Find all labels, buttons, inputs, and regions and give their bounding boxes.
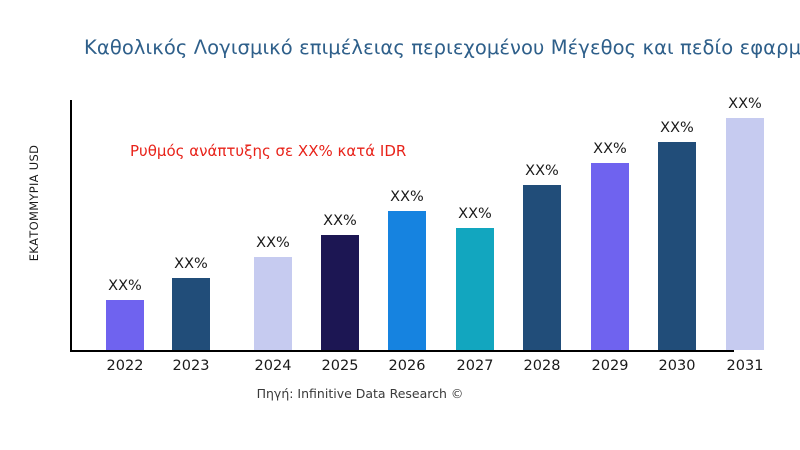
bar-value-label-2031: XX%	[728, 96, 762, 112]
x-tick-2025: 2025	[305, 358, 375, 374]
bar-group-2023: XX%	[172, 278, 210, 350]
x-tick-2022: 2022	[90, 358, 160, 374]
bar-value-label-2023: XX%	[174, 256, 208, 272]
bar-2027[interactable]	[456, 228, 494, 350]
bar-2024[interactable]	[254, 257, 292, 350]
bar-group-2022: XX%	[106, 300, 144, 350]
bar-2022[interactable]	[106, 300, 144, 350]
x-tick-2029: 2029	[575, 358, 645, 374]
source-note: Πηγή: Infinitive Data Research ©	[0, 386, 720, 401]
bar-2023[interactable]	[172, 278, 210, 350]
bar-group-2030: XX%	[658, 142, 696, 350]
bar-2030[interactable]	[658, 142, 696, 350]
bar-group-2028: XX%	[523, 185, 561, 350]
bar-value-label-2022: XX%	[108, 278, 142, 294]
bar-value-label-2030: XX%	[660, 120, 694, 136]
x-tick-2027: 2027	[440, 358, 510, 374]
x-tick-2026: 2026	[372, 358, 442, 374]
bar-2026[interactable]	[388, 211, 426, 350]
bar-2029[interactable]	[591, 163, 629, 350]
bar-value-label-2025: XX%	[323, 213, 357, 229]
bar-value-label-2028: XX%	[525, 163, 559, 179]
bar-group-2029: XX%	[591, 163, 629, 350]
bar-2028[interactable]	[523, 185, 561, 350]
bar-group-2031: XX%	[726, 118, 764, 350]
bar-value-label-2026: XX%	[390, 189, 424, 205]
bar-group-2025: XX%	[321, 235, 359, 350]
x-tick-2024: 2024	[238, 358, 308, 374]
bar-value-label-2027: XX%	[458, 206, 492, 222]
x-tick-2023: 2023	[156, 358, 226, 374]
x-tick-2028: 2028	[507, 358, 577, 374]
bar-2031[interactable]	[726, 118, 764, 350]
bar-value-label-2024: XX%	[256, 235, 290, 251]
bar-group-2024: XX%	[254, 257, 292, 350]
x-tick-2031: 2031	[710, 358, 780, 374]
bar-value-label-2029: XX%	[593, 141, 627, 157]
bar-group-2026: XX%	[388, 211, 426, 350]
bar-2025[interactable]	[321, 235, 359, 350]
bar-series: XX%2022XX%2023XX%2024XX%2025XX%2026XX%20…	[0, 0, 800, 450]
bar-group-2027: XX%	[456, 228, 494, 350]
chart-canvas: Καθολικός Λογισμικό επιμέλειας περιεχομέ…	[0, 0, 800, 450]
x-tick-2030: 2030	[642, 358, 712, 374]
